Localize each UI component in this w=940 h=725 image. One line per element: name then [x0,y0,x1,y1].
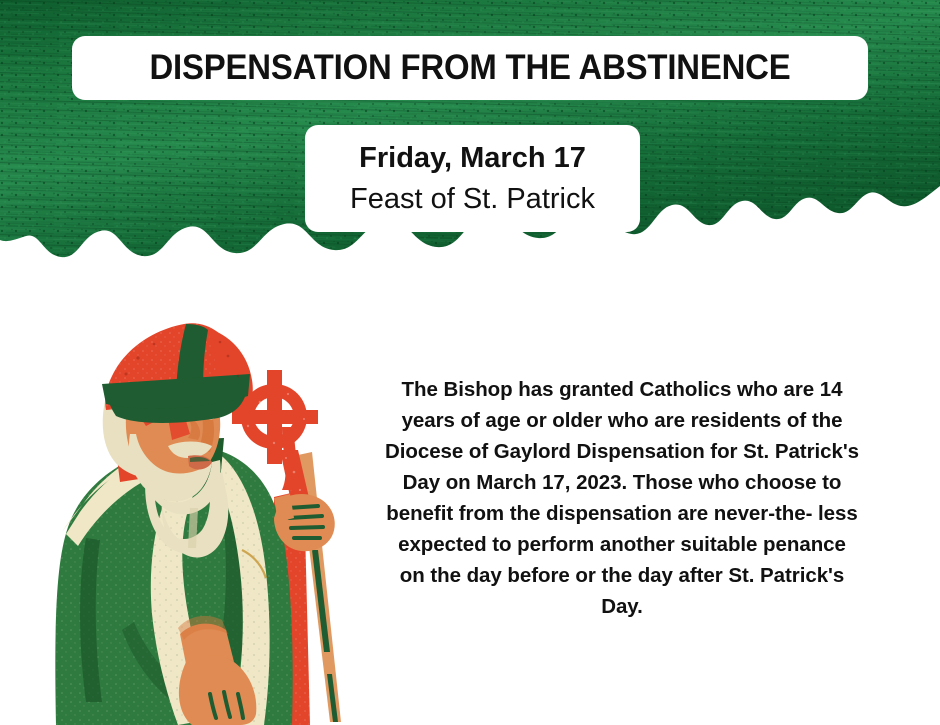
subtitle-date: Friday, March 17 [359,138,586,178]
page-title: DISPENSATION FROM THE ABSTINENCE [149,48,790,88]
mitre [102,323,253,423]
subtitle-plate: Friday, March 17 Feast of St. Patrick [305,125,640,232]
subtitle-feast: Feast of St. Patrick [350,178,595,220]
body-paragraph: The Bishop has granted Catholics who are… [383,374,861,622]
poster-canvas: DISPENSATION FROM THE ABSTINENCE Friday,… [0,0,940,725]
saint-patrick-illustration [42,322,374,725]
title-plate: DISPENSATION FROM THE ABSTINENCE [72,36,868,100]
